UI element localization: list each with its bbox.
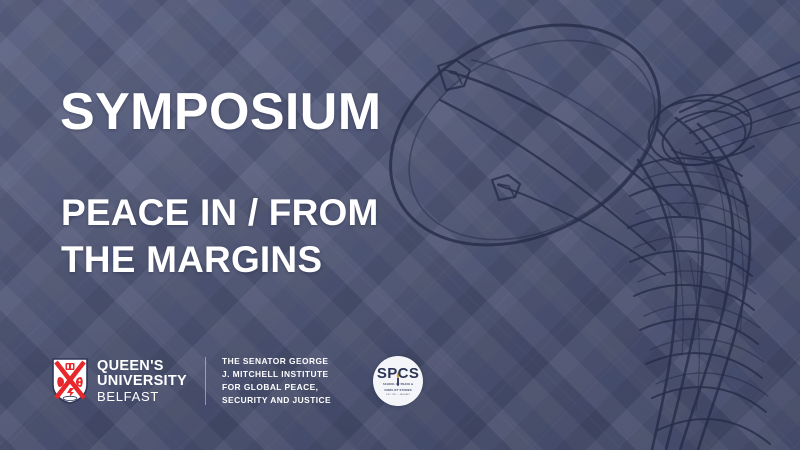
mitchell-line-3: FOR GLOBAL PEACE,: [222, 381, 331, 394]
qub-line-2: UNIVERSITY: [97, 374, 187, 389]
logo-bar: QUEEN'S UNIVERSITY BELFAST THE SENATOR G…: [52, 352, 423, 410]
logo-mitchell-institute: THE SENATOR GEORGE J. MITCHELL INSTITUTE…: [222, 355, 331, 407]
page-subtitle: PEACE IN / FROM THE MARGINS: [61, 190, 379, 283]
mitchell-line-1: THE SENATOR GEORGE: [222, 355, 331, 368]
subtitle-line-1: PEACE IN / FROM: [61, 190, 379, 237]
logo-spcs: SPCS SCHOOL OF PEACE & CONFLICT STUDIES …: [373, 356, 423, 406]
wire-sculpture: [380, 0, 800, 450]
spcs-subtitle-3: EST. 2011 — BELFAST: [386, 394, 410, 396]
logo-queens-university-belfast: QUEEN'S UNIVERSITY BELFAST: [52, 358, 187, 404]
qub-line-1: QUEEN'S: [97, 359, 187, 374]
logo-divider: [205, 357, 206, 405]
queens-shield-icon: [52, 358, 88, 404]
queens-wordmark: QUEEN'S UNIVERSITY BELFAST: [97, 359, 187, 403]
qub-line-3: BELFAST: [97, 390, 187, 403]
mitchell-line-4: SECURITY AND JUSTICE: [222, 394, 331, 407]
symposium-slide: SYMPOSIUM PEACE IN / FROM THE MARGINS: [0, 0, 800, 450]
mitchell-line-2: J. MITCHELL INSTITUTE: [222, 368, 331, 381]
spcs-mark: SPCS: [377, 366, 419, 381]
spcs-subtitle-1: SCHOOL OF PEACE &: [383, 383, 413, 387]
subtitle-line-2: THE MARGINS: [61, 237, 379, 284]
spcs-subtitle-2: CONFLICT STUDIES: [384, 389, 411, 393]
page-title: SYMPOSIUM: [60, 86, 381, 138]
